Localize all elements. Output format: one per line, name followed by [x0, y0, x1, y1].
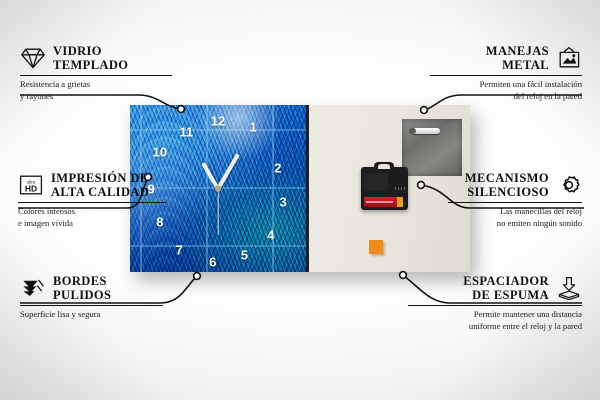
feature-desc-line2: e imagen vívida — [18, 218, 166, 230]
connector-dot-bordes — [194, 273, 201, 280]
clock-number-11: 11 — [179, 125, 193, 138]
feature-desc-line2: y rayones — [20, 91, 172, 103]
clock-number-10: 10 — [153, 145, 167, 158]
feature-desc-line2: uniforme entre el reloj y la pared — [408, 321, 582, 333]
glass-edge — [306, 105, 309, 272]
clock-back-panel — [306, 105, 470, 272]
foam-spacer-arrow-icon — [556, 276, 582, 300]
ultra-hd-icon: ultra HD — [18, 173, 44, 197]
picture-frame-hanger-icon — [556, 46, 582, 70]
feature-impresion-alta-calidad: ultra HD IMPRESIÓN DE ALTA CALIDAD Color… — [18, 171, 166, 230]
clock-number-5: 5 — [241, 249, 248, 262]
clock-number-1: 1 — [250, 121, 257, 134]
feature-manejas-metal: MANEJAS METAL Permiten una fácil instala… — [430, 44, 582, 103]
product-image: 12 1 2 3 4 5 6 7 8 9 10 11 — [130, 105, 470, 272]
feature-desc-line2: del reloj en la pared — [430, 91, 582, 103]
feature-espaciador-espuma: ESPACIADOR DE ESPUMA Permite mantener un… — [408, 274, 582, 333]
clock-number-7: 7 — [176, 244, 183, 257]
second-hand — [217, 189, 218, 235]
battery — [364, 197, 403, 207]
feature-title-line1: MANEJAS — [486, 44, 549, 58]
feature-title-line1: ESPACIADOR — [463, 274, 549, 288]
feature-desc-line2: no emiten ningún sonido — [448, 218, 582, 230]
feature-desc-line1: Permite mantener una distancia — [408, 309, 582, 321]
feature-desc-line1: Permiten una fácil instalación — [430, 79, 582, 91]
feature-title-line1: BORDES — [53, 274, 111, 288]
ultra-hd-icon-large: HD — [25, 183, 37, 193]
clock-mechanism-box — [361, 167, 408, 210]
clock-number-3: 3 — [279, 195, 286, 208]
diamond-icon — [20, 46, 46, 70]
feature-title-line2: PULIDOS — [53, 288, 111, 302]
feature-desc-line1: Superficie lisa y segura — [20, 309, 163, 321]
clock-number-6: 6 — [209, 255, 216, 268]
feature-title-line1: MECANISMO — [465, 171, 549, 185]
clock-number-2: 2 — [274, 162, 281, 175]
feature-desc-line1: Las manecillas del reloj — [448, 206, 582, 218]
feature-bordes-pulidos: BORDES PULIDOS Superficie lisa y segura — [20, 274, 163, 321]
clock-number-4: 4 — [267, 229, 274, 242]
infographic-canvas: 12 1 2 3 4 5 6 7 8 9 10 11 — [0, 0, 600, 400]
feature-title-line2: SILENCIOSO — [465, 185, 549, 199]
gear-icon — [556, 173, 582, 197]
foam-spacer — [369, 240, 383, 254]
feature-desc-line1: Resistencia a grietas — [20, 79, 172, 91]
polished-edges-icon — [20, 276, 46, 300]
feature-title-line2: METAL — [486, 58, 549, 72]
feature-title-line1: IMPRESIÓN DE — [51, 171, 149, 185]
clock-center-pin — [215, 186, 221, 192]
feature-title-line2: TEMPLADO — [53, 58, 128, 72]
feature-vidrio-templado: VIDRIO TEMPLADO Resistencia a grietas y … — [20, 44, 172, 103]
feature-desc-line1: Colores intensos — [18, 206, 166, 218]
metal-hanger-plate — [402, 119, 462, 176]
clock-number-12: 12 — [211, 115, 225, 128]
feature-mecanismo-silencioso: MECANISMO SILENCIOSO Las manecillas del … — [448, 171, 582, 230]
feature-title-line1: VIDRIO — [53, 44, 128, 58]
feature-title-line2: ALTA CALIDAD — [51, 185, 149, 199]
connector-dot-espaciador — [400, 272, 407, 279]
feature-title-line2: DE ESPUMA — [463, 288, 549, 302]
